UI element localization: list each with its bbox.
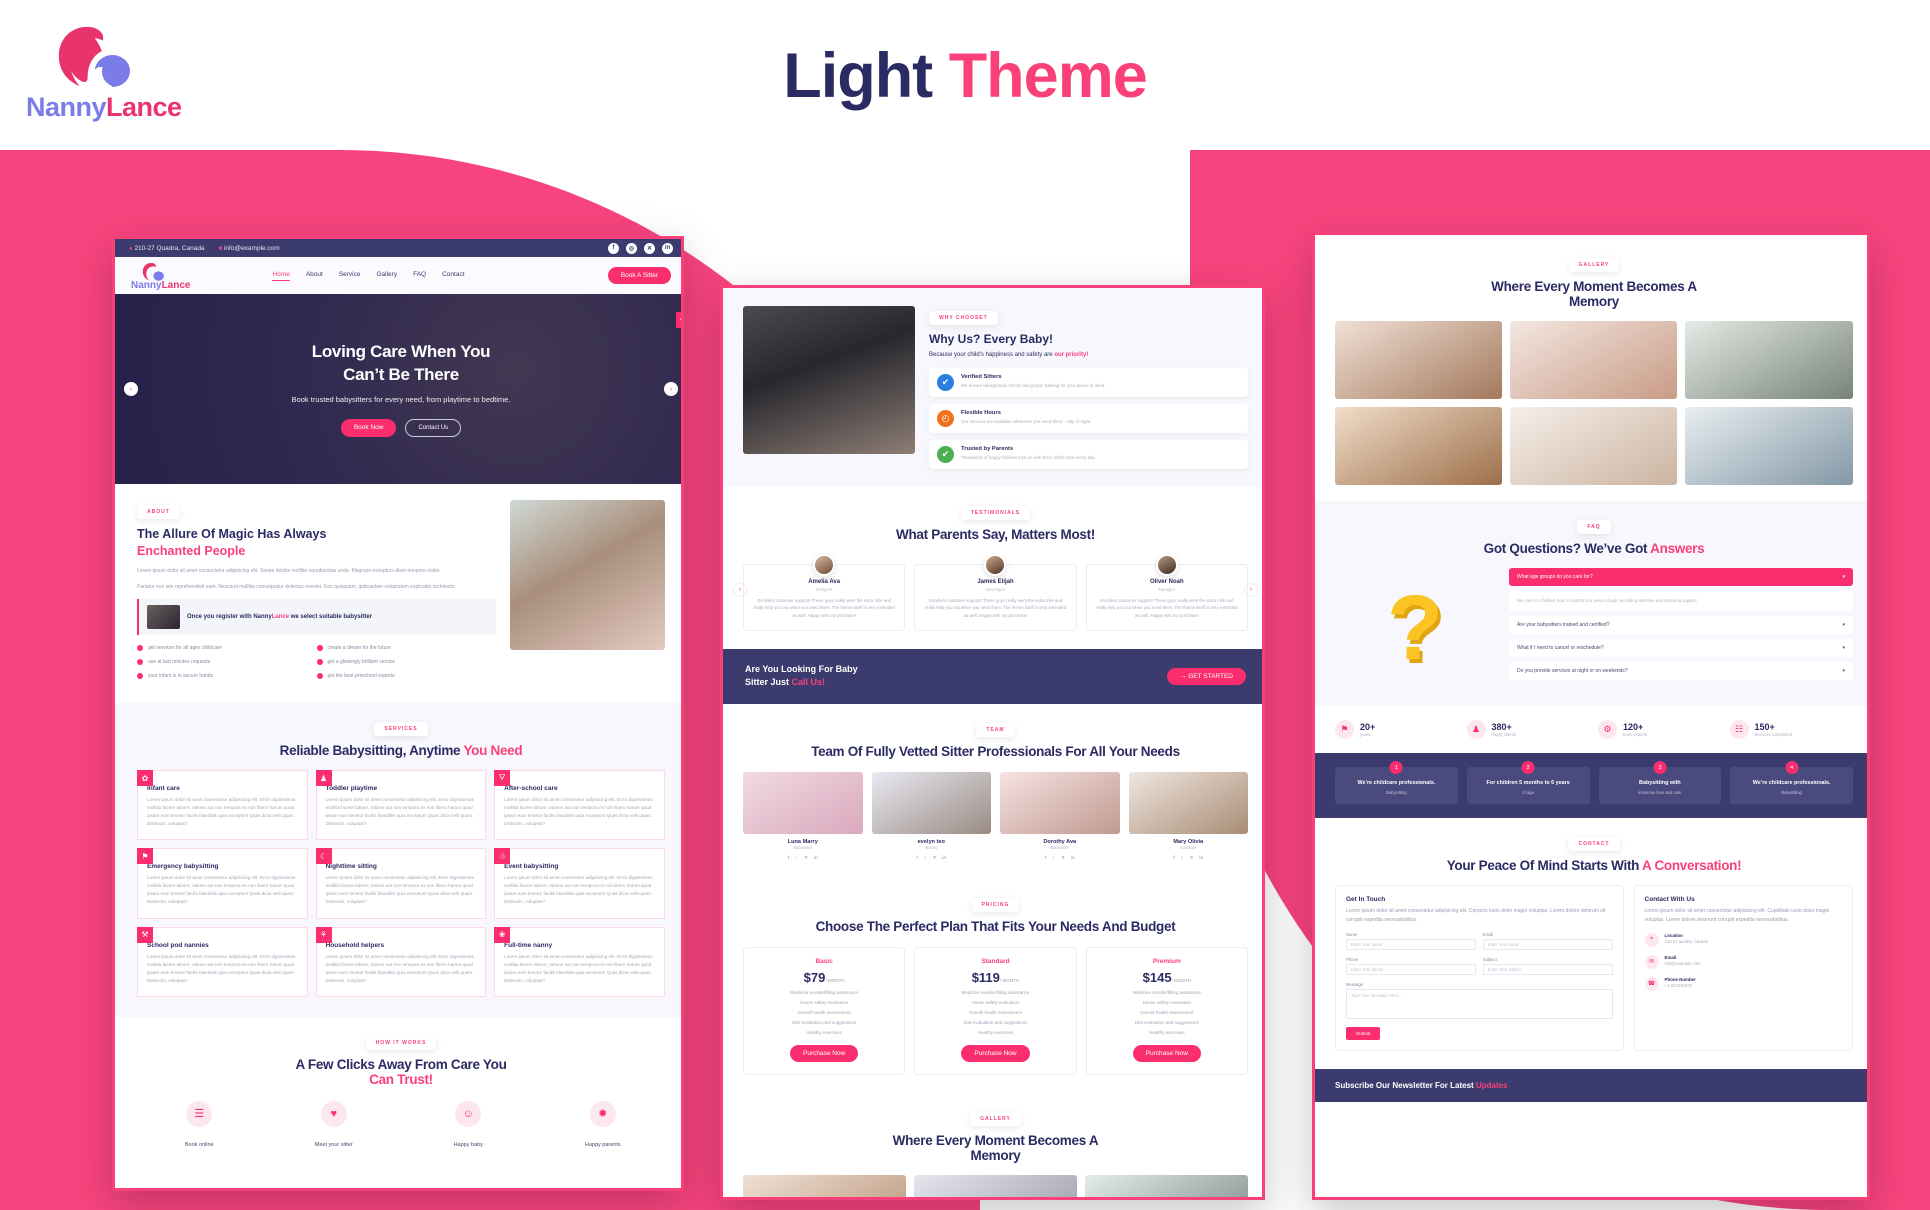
cta-get-started-button[interactable]: → GET STARTED: [1167, 668, 1246, 685]
about-check-item: get a glowingly brilliant service: [317, 659, 497, 665]
team-member-photo: [872, 772, 992, 834]
mail-icon: ■: [219, 246, 223, 252]
emergency-babysitting-icon: ⚑: [137, 848, 153, 864]
hero-side-tab-icon[interactable]: ●: [676, 312, 684, 328]
contact-phone-row: ☎Phone Number+1-012345678: [1645, 977, 1842, 991]
about-section: ABOUT The Allure Of Magic Has AlwaysEnch…: [115, 484, 684, 703]
book-online-icon: ☰: [186, 1101, 212, 1127]
instagram-icon[interactable]: ○: [1181, 855, 1184, 861]
question-mark-illustration-icon: ?: [1335, 568, 1495, 688]
faq-answer: We care for children from 3 months to 6 …: [1509, 591, 1853, 611]
team-tag: TEAM: [976, 723, 1014, 737]
stat-item: ☷150+Services Completed: [1730, 720, 1854, 739]
pricing-card-basic: Basic $79/ MONTH Medicine reorder/fillin…: [743, 947, 905, 1075]
service-card[interactable]: ❀Full-time nannyLorem ipsum dolor sit am…: [494, 927, 665, 997]
about-check-item: use at last minutes requests: [137, 659, 317, 665]
service-card[interactable]: ♟Toddler playtimeLorem ipsum dolor sit a…: [316, 770, 487, 840]
instagram-icon[interactable]: ◎: [626, 243, 637, 254]
household-helpers-icon: ⚘: [316, 927, 332, 943]
how-step: ☰Book online: [137, 1101, 262, 1151]
team-member-photo: [1000, 772, 1120, 834]
nav-item-about[interactable]: About: [306, 271, 323, 281]
gallery-title: Where Every Moment Becomes AMemory: [1335, 279, 1853, 309]
about-paragraph-2: Pariatur non iste reprehenderit eam. Nes…: [137, 583, 496, 592]
team-social-links[interactable]: f○✕in: [1129, 855, 1249, 861]
nav-logo[interactable]: NannyLance: [131, 261, 190, 291]
contact-form-desc: Lorem ipsum dolor sit amet consectetur a…: [1346, 907, 1613, 925]
envelope-icon: ✉: [1645, 955, 1659, 969]
why-title: Why Us? Every Baby!: [929, 332, 1248, 346]
chevron-down-icon: ▾: [1842, 574, 1845, 580]
how-step: ☺Happy baby: [406, 1101, 531, 1151]
linkedin-icon[interactable]: in: [814, 855, 818, 861]
clock-icon: ◴: [937, 410, 954, 427]
gallery-image[interactable]: [914, 1175, 1077, 1200]
services-grid: ✿Infant careLorem ipsum dolor sit amet c…: [137, 770, 665, 996]
preview-panel-gallery-faq[interactable]: GALLERY Where Every Moment Becomes AMemo…: [1312, 232, 1870, 1200]
page-title: Light Theme: [0, 40, 1930, 112]
how-step: ♥Meet your sitter: [272, 1101, 397, 1151]
service-card[interactable]: ☃Event babysittingLorem ipsum dolor sit …: [494, 848, 665, 918]
topbar: ● 210-27 Quadra, Canada ■ info@example.c…: [115, 239, 684, 257]
gallery-title: Where Every Moment Becomes AMemory: [743, 1133, 1248, 1163]
nav-item-contact[interactable]: Contact: [442, 271, 464, 281]
check-icon: [137, 659, 143, 665]
linkedin-icon[interactable]: in: [1199, 855, 1203, 861]
team-member: Dorothy AvaBabysitter f○✕in: [1000, 772, 1120, 861]
testimonials-section: TESTIMONIALS What Parents Say, Matters M…: [723, 487, 1265, 649]
step-card: 4We’re childcare professionals.Babysitti…: [1730, 767, 1853, 804]
about-check-item: create a dream for the future: [317, 645, 497, 651]
pricing-section: PRICING Choose The Perfect Plan That Fit…: [723, 879, 1265, 1093]
phone-icon: ☎: [1645, 977, 1659, 991]
navbar: NannyLance Home About Service Gallery FA…: [115, 257, 684, 294]
preview-panel-features[interactable]: WHY CHOOSE? Why Us? Every Baby! Because …: [720, 285, 1265, 1200]
facebook-icon[interactable]: f: [917, 855, 918, 861]
cta-band-title: Are You Looking For BabySitter Just Call…: [745, 663, 858, 690]
gallery-image[interactable]: [1685, 321, 1852, 399]
service-card[interactable]: ☾Nighttime sittingLorem ipsum dolor sit …: [316, 848, 487, 918]
gallery-tag: GALLERY: [1569, 258, 1620, 272]
hero-subtitle: Book trusted babysitters for every need,…: [292, 394, 511, 406]
why-us-image: [743, 306, 915, 454]
event-babysitting-icon: ☃: [494, 848, 510, 864]
infant-care-icon: ✿: [137, 770, 153, 786]
location-icon: ●: [129, 246, 133, 252]
gallery-tag: GALLERY: [970, 1112, 1021, 1126]
shield-check-icon: ✔: [937, 446, 954, 463]
facebook-icon[interactable]: f: [1174, 855, 1175, 861]
instagram-icon[interactable]: ○: [1052, 855, 1055, 861]
topbar-email[interactable]: ■ info@example.com: [219, 245, 280, 252]
preview-panel-home[interactable]: ● 210-27 Quadra, Canada ■ info@example.c…: [112, 236, 684, 1191]
toddler-playtime-icon: ♟: [316, 770, 332, 786]
faq-accordion[interactable]: What age groups do you care for?▾ We car…: [1509, 568, 1853, 685]
team-member: Mary Oliviamanager f○✕in: [1129, 772, 1249, 861]
team-section: TEAM Team Of Fully Vetted Sitter Profess…: [723, 704, 1265, 879]
service-card[interactable]: ✿Infant careLorem ipsum dolor sit amet c…: [137, 770, 308, 840]
page-title-light: Light: [783, 41, 932, 111]
nav-brand-a: Nanny: [131, 280, 162, 291]
facebook-icon[interactable]: f: [608, 243, 619, 254]
twitter-x-icon[interactable]: ✕: [1061, 855, 1065, 861]
gallery-image[interactable]: [1085, 1175, 1248, 1200]
service-card[interactable]: ⛛After-school careLorem ipsum dolor sit …: [494, 770, 665, 840]
contact-info-desc: Lorem ipsum dolor sit amet consectetur a…: [1645, 907, 1842, 925]
why-subtitle: Because your child’s happiness and safet…: [929, 351, 1248, 361]
about-check-item: your infant is in secure hands: [137, 673, 317, 679]
newsletter-band: Subscribe Our Newsletter For Latest Upda…: [1315, 1069, 1870, 1102]
gallery-image[interactable]: [1335, 407, 1502, 485]
gallery-image[interactable]: [1510, 321, 1677, 399]
full-time-nanny-icon: ❀: [494, 927, 510, 943]
nav-links[interactable]: Home About Service Gallery FAQ Contact: [272, 271, 464, 281]
service-card[interactable]: ⚒School pod nanniesLorem ipsum dolor sit…: [137, 927, 308, 997]
contact-form: Get In Touch Lorem ipsum dolor sit amet …: [1335, 885, 1624, 1051]
faq-question[interactable]: Do you provide services at night or on w…: [1509, 662, 1853, 680]
purchase-now-button[interactable]: Purchase Now: [961, 1045, 1029, 1062]
avatar: [984, 554, 1006, 576]
submit-button[interactable]: Submit: [1346, 1027, 1380, 1040]
stat-item: ⚑20+years: [1335, 720, 1459, 739]
message-textarea[interactable]: Type Your Message Here...: [1346, 989, 1613, 1019]
how-tag: HOW IT WORKS: [366, 1036, 437, 1050]
contact-info-heading: Contact With Us: [1645, 896, 1842, 903]
chevron-down-icon: ▾: [1842, 622, 1845, 628]
linkedin-icon[interactable]: in: [662, 243, 673, 254]
gallery-section-panel2: GALLERY Where Every Moment Becomes AMemo…: [723, 1093, 1265, 1200]
pricing-title: Choose The Perfect Plan That Fits Your N…: [743, 919, 1248, 934]
facebook-icon[interactable]: f: [788, 855, 789, 861]
contact-section: CONTACT Your Peace Of Mind Starts With A…: [1315, 818, 1870, 1069]
about-paragraph-1: Lorem ipsum dolor sit amet consectetur a…: [137, 567, 496, 576]
hero-slider: ● ‹ › Loving Care When YouCan’t Be There…: [115, 294, 684, 484]
team-experts-icon: ⚙: [1598, 720, 1617, 739]
linkedin-icon[interactable]: in: [942, 855, 946, 861]
faq-question[interactable]: Are your babysitters trained and certifi…: [1509, 616, 1853, 634]
hero-title: Loving Care When YouCan’t Be There: [312, 341, 491, 387]
pricing-card-premium: Premium $145/ MONTH Medicine reorder/fil…: [1086, 947, 1248, 1075]
hero-book-now-button[interactable]: Book Now: [341, 419, 397, 437]
about-check-item: get the best preschool experts: [317, 673, 497, 679]
location-pin-icon: ⌖: [1645, 933, 1659, 947]
nighttime-sitting-icon: ☾: [316, 848, 332, 864]
faq-question-open[interactable]: What age groups do you care for?▾: [1509, 568, 1853, 586]
contact-form-heading: Get In Touch: [1346, 896, 1613, 903]
after-school-care-icon: ⛛: [494, 770, 510, 786]
avatar: [1156, 554, 1178, 576]
about-check-list: get services for all ages childcare crea…: [137, 645, 496, 687]
services-completed-icon: ☷: [1730, 720, 1749, 739]
feature-trusted-by-parents: ✔ Trusted by ParentsThousands of happy f…: [929, 440, 1248, 469]
testimonial-card: James ElijahDeveloper Excellent customer…: [914, 564, 1076, 631]
team-member: evelyn teoNanny f○✕in: [872, 772, 992, 861]
check-icon: [137, 645, 143, 651]
happy-clients-icon: ♟: [1467, 720, 1486, 739]
check-icon: [137, 673, 143, 679]
chevron-down-icon: ▾: [1842, 668, 1845, 674]
email-input[interactable]: Enter Your email: [1483, 939, 1613, 950]
nav-brand-b: Lance: [162, 280, 191, 291]
services-title: Reliable Babysitting, Anytime You Need: [137, 743, 665, 758]
contact-title: Your Peace Of Mind Starts With A Convers…: [1335, 858, 1853, 873]
faq-section: FAQ Got Questions? We’ve Got Answers ? W…: [1315, 501, 1870, 706]
facebook-icon[interactable]: f: [1045, 855, 1046, 861]
stat-item: ♟380+happy clients: [1467, 720, 1591, 739]
nav-item-home[interactable]: Home: [272, 271, 289, 281]
verified-badge-icon: ✔: [937, 374, 954, 391]
contact-tag: CONTACT: [1568, 837, 1619, 851]
about-tag: ABOUT: [137, 505, 180, 519]
faq-question[interactable]: What if I need to cancel or reschedule?▾: [1509, 639, 1853, 657]
chevron-down-icon: ▾: [1842, 645, 1845, 651]
team-member-photo: [1129, 772, 1249, 834]
meet-sitter-icon: ♥: [321, 1101, 347, 1127]
contact-email-row: ✉Emailinfo@example.com: [1645, 955, 1842, 969]
purchase-now-button[interactable]: Purchase Now: [790, 1045, 858, 1062]
check-icon: [317, 673, 323, 679]
twitter-x-icon[interactable]: ✕: [933, 855, 937, 861]
how-title: A Few Clicks Away From Care YouCan Trust…: [137, 1057, 665, 1087]
years-icon: ⚑: [1335, 720, 1354, 739]
services-section: SERVICES Reliable Babysitting, Anytime Y…: [115, 703, 684, 1016]
instagram-icon[interactable]: ○: [924, 855, 927, 861]
purchase-now-button[interactable]: Purchase Now: [1133, 1045, 1201, 1062]
stat-item: ⚙120+team experts: [1598, 720, 1722, 739]
testimonial-card: Oliver NoahManager Excellent customer su…: [1086, 564, 1248, 631]
testimonials-tag: TESTIMONIALS: [961, 506, 1030, 520]
instagram-icon[interactable]: ○: [795, 855, 798, 861]
twitter-x-icon[interactable]: ✕: [804, 855, 808, 861]
feature-verified-sitters: ✔ Verified SittersWe ensure background c…: [929, 368, 1248, 397]
team-title: Team Of Fully Vetted Sitter Professional…: [743, 744, 1248, 759]
how-step: ✹Happy parents: [541, 1101, 666, 1151]
steps-band: 1We’re childcare professionals.Babysitti…: [1315, 753, 1870, 818]
school-pod-nannies-icon: ⚒: [137, 927, 153, 943]
gallery-image[interactable]: [743, 1175, 906, 1200]
step-card: 2For children 5 months to 6 yearsof age: [1467, 767, 1590, 804]
about-quote-image: [147, 605, 180, 629]
cta-band: Are You Looking For BabySitter Just Call…: [723, 649, 1265, 704]
faq-title: Got Questions? We’ve Got Answers: [1335, 541, 1853, 556]
book-a-sitter-button[interactable]: Book A Sitter: [608, 267, 671, 284]
team-member: Luna MarryBabysitter f○✕in: [743, 772, 863, 861]
check-icon: [317, 659, 323, 665]
contact-location-row: ⌖Location210-27 quadra, canada: [1645, 933, 1842, 947]
name-input[interactable]: Enter Your name: [1346, 939, 1476, 950]
contact-info: Contact With Us Lorem ipsum dolor sit am…: [1634, 885, 1853, 1051]
how-it-works-section: HOW IT WORKS A Few Clicks Away From Care…: [115, 1017, 684, 1167]
testimonial-card: Amelia AvaDesigner Excellent customer su…: [743, 564, 905, 631]
twitter-x-icon[interactable]: ✕: [644, 243, 655, 254]
about-image: [510, 500, 665, 650]
feature-flexible-hours: ◴ Flexible HoursOur services are availab…: [929, 404, 1248, 433]
nav-item-faq[interactable]: FAQ: [413, 271, 426, 281]
page-title-theme: Theme: [949, 41, 1147, 111]
check-icon: [317, 645, 323, 651]
team-member-photo: [743, 772, 863, 834]
happy-baby-icon: ☺: [455, 1101, 481, 1127]
why-us-section: WHY CHOOSE? Why Us? Every Baby! Because …: [723, 288, 1265, 487]
linkedin-icon[interactable]: in: [1071, 855, 1075, 861]
about-quote: Once you register with NannyLance we sel…: [137, 599, 496, 635]
service-card[interactable]: ⚑Emergency babysittingLorem ipsum dolor …: [137, 848, 308, 918]
social-links[interactable]: f ◎ ✕ in: [608, 243, 673, 254]
gallery-image[interactable]: [1685, 407, 1852, 485]
service-card[interactable]: ⚘Household helpersLorem ipsum dolor sit …: [316, 927, 487, 997]
pricing-tag: PRICING: [972, 898, 1020, 912]
services-tag: SERVICES: [374, 722, 427, 736]
step-card: 1We’re childcare professionals.Babysitti…: [1335, 767, 1458, 804]
team-social-links[interactable]: f○✕in: [743, 855, 863, 861]
faq-tag: FAQ: [1577, 520, 1610, 534]
gallery-section: GALLERY Where Every Moment Becomes AMemo…: [1315, 235, 1870, 501]
subject-input[interactable]: Enter Your subject: [1483, 964, 1613, 975]
gallery-image[interactable]: [1510, 407, 1677, 485]
team-social-links[interactable]: f○✕in: [1000, 855, 1120, 861]
happy-parents-icon: ✹: [590, 1101, 616, 1127]
about-check-item: get services for all ages childcare: [137, 645, 317, 651]
avatar: [813, 554, 835, 576]
stats-section: ⚑20+years ♟380+happy clients ⚙120+team e…: [1315, 706, 1870, 753]
nav-item-gallery[interactable]: Gallery: [377, 271, 398, 281]
pricing-card-standard: Standard $119/ MONTH Medicine reorder/fi…: [914, 947, 1076, 1075]
how-steps: ☰Book online ♥Meet your sitter ☺Happy ba…: [137, 1101, 665, 1151]
about-title: The Allure Of Magic Has AlwaysEnchanted …: [137, 526, 496, 560]
twitter-x-icon[interactable]: ✕: [1190, 855, 1194, 861]
topbar-address: ● 210-27 Quadra, Canada: [129, 245, 205, 252]
testimonials-title: What Parents Say, Matters Most!: [743, 527, 1248, 542]
why-tag: WHY CHOOSE?: [929, 311, 998, 325]
phone-input[interactable]: Enter Your phone: [1346, 964, 1476, 975]
gallery-image[interactable]: [1335, 321, 1502, 399]
nav-item-service[interactable]: Service: [339, 271, 361, 281]
hero-prev-arrow-icon[interactable]: ‹: [124, 382, 138, 396]
hero-next-arrow-icon[interactable]: ›: [664, 382, 678, 396]
step-card: 3Babysitting withimmense love and care: [1599, 767, 1722, 804]
team-social-links[interactable]: f○✕in: [872, 855, 992, 861]
hero-contact-us-button[interactable]: Contact Us: [405, 419, 461, 437]
